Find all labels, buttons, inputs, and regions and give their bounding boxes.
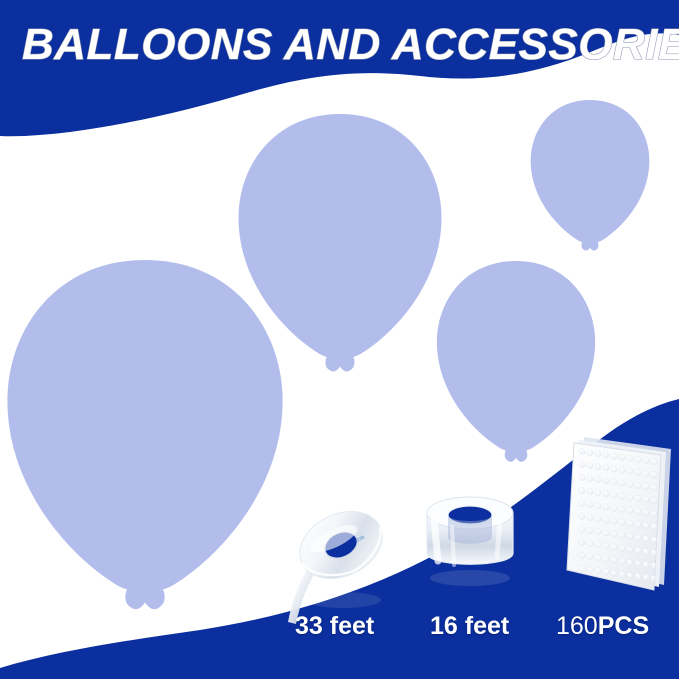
tape-roll-wide-icon <box>427 497 513 586</box>
glue-dots-count: 160 <box>556 612 598 640</box>
caption-glue-dots-count: 160PCS <box>556 612 649 641</box>
caption-tape-length: 16 feet <box>430 612 509 641</box>
page-title: BALLOONS AND ACCESSORIES <box>22 20 679 70</box>
tape-roll-thin-icon: 33ft <box>288 499 393 624</box>
product-infographic: 33ft <box>0 0 679 679</box>
caption-ribbon-length: 33 feet <box>295 612 374 641</box>
accessory-group: 33ft <box>0 0 679 679</box>
glue-dots-sheet-icon <box>567 437 671 590</box>
glue-dots-unit: PCS <box>598 612 649 640</box>
